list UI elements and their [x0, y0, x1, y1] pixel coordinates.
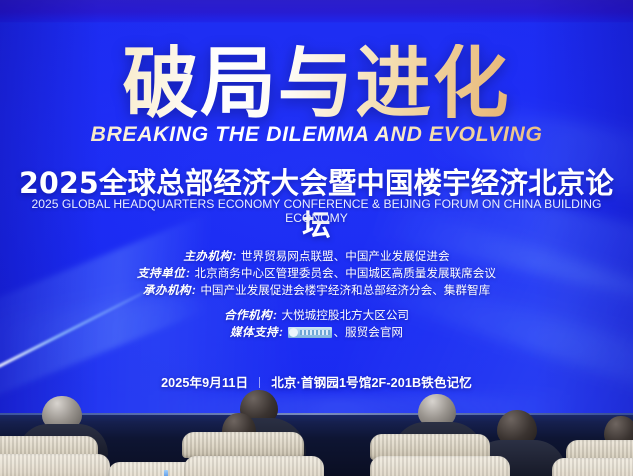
conference-stage-photo: 破局与进化 BREAKING THE DILEMMA AND EVOLVING … [0, 0, 633, 476]
organization-separator: : [232, 250, 236, 263]
organization-value: 北京商务中心区管理委员会、中国城区高质量发展联席会议 [195, 267, 496, 280]
conference-title-english: 2025 GLOBAL HEADQUARTERS ECONOMY CONFERE… [5, 197, 629, 225]
audience-chair [182, 432, 304, 458]
organization-value: 中国产业发展促进会楼宇经济和总部经济分会、集群智库 [200, 284, 490, 297]
organization-separator: : [186, 267, 190, 280]
organization-value: 世界贸易网点联盟、中国产业发展促进会 [241, 250, 450, 263]
organization-label: 支持单位 [137, 267, 185, 280]
audience-chair [370, 456, 510, 476]
audience-chair [552, 458, 633, 476]
organization-separator: : [273, 309, 277, 322]
audience-chair [184, 456, 324, 476]
organization-value: 、服贸会官网 [333, 326, 403, 339]
led-backdrop: 破局与进化 BREAKING THE DILEMMA AND EVOLVING … [0, 0, 633, 413]
organization-label: 合作机构 [224, 309, 272, 322]
organization-row-media: 媒体支持: 、服贸会官网 [0, 324, 633, 341]
organization-row-supporter: 支持单位: 北京商务中心区管理委员会、中国城区高质量发展联席会议 [0, 265, 633, 282]
audience-chair [0, 454, 110, 476]
media-partner-logo-icon [288, 327, 332, 338]
organization-separator: : [192, 284, 196, 297]
organization-row-host: 主办机构: 世界贸易网点联盟、中国产业发展促进会 [0, 248, 633, 265]
organization-row-organizer: 承办机构: 中国产业发展促进会楼宇经济和总部经济分会、集群智库 [0, 282, 633, 299]
organizations-block: 主办机构: 世界贸易网点联盟、中国产业发展促进会 支持单位: 北京商务中心区管理… [0, 248, 633, 341]
water-bottle [164, 470, 168, 476]
headline-english: BREAKING THE DILEMMA AND EVOLVING [3, 122, 630, 147]
organization-label: 承办机构 [143, 284, 191, 297]
organization-separator: : [279, 326, 283, 339]
organization-value: 大悦城控股北方大区公司 [281, 309, 409, 322]
organization-row-partner: 合作机构: 大悦城控股北方大区公司 [0, 307, 633, 324]
organization-label: 主办机构 [183, 250, 231, 263]
audience-area [0, 386, 633, 476]
organization-label: 媒体支持 [230, 326, 278, 339]
headline-chinese: 破局与进化 [9, 44, 623, 124]
